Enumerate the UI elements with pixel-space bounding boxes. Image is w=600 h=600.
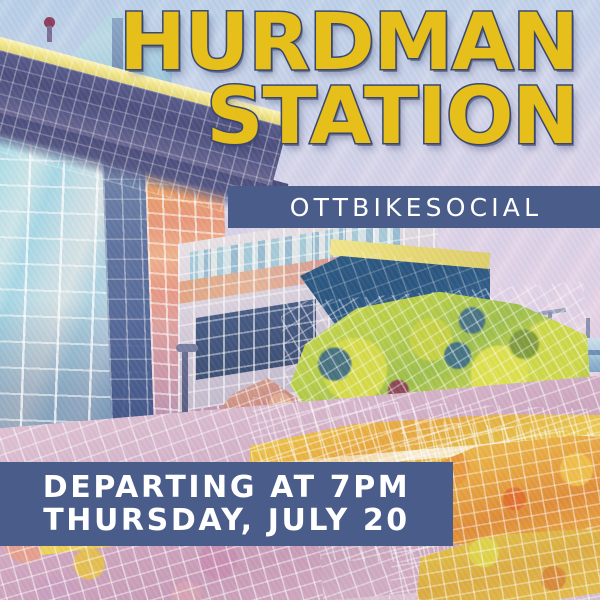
- subtitle-band: OTTBIKESOCIAL: [228, 186, 600, 228]
- lamp-head: [176, 344, 198, 352]
- departure-time-line: DEPARTING AT 7PM: [43, 473, 411, 503]
- poster-title: HURDMAN STATION: [0, 8, 600, 154]
- organizer-name: OTTBIKESOCIAL: [286, 193, 543, 222]
- title-line-station: STATION: [0, 82, 578, 154]
- departure-date-line: THURSDAY, JULY 20: [43, 506, 410, 536]
- event-poster: HURDMAN STATION OTTBIKESOCIAL DEPARTING …: [0, 0, 600, 600]
- title-line-hurdman: HURDMAN: [0, 8, 578, 80]
- departure-info-banner: DEPARTING AT 7PM THURSDAY, JULY 20: [0, 462, 453, 546]
